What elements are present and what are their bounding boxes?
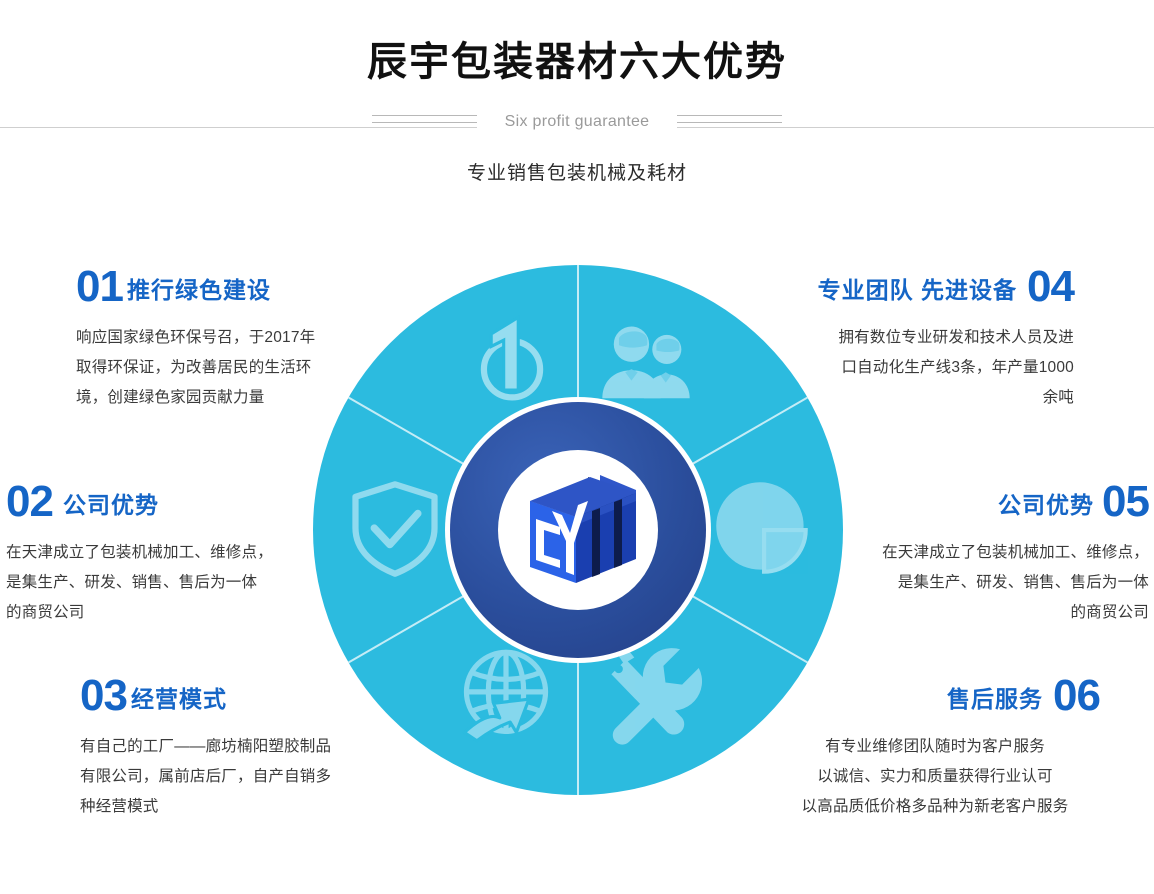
advantage-item-04: 专业团队 先进设备04 拥有数位专业研发和技术人员及进 口自动化生产线3条，年产… [782,265,1074,413]
advantage-body-line: 种经营模式 [80,792,390,822]
advantage-item-02: 02公司优势 在天津成立了包装机械加工、维修点， 是集生产、研发、销售、售后为一… [6,480,296,628]
advantage-body-05: 在天津成立了包装机械加工、维修点， 是集生产、研发、销售、售后为一体 的商贸公司 [855,538,1149,628]
advantage-number-04: 04 [1027,262,1074,311]
advantage-title-02: 公司优势 [63,492,159,518]
page-title: 辰宇包装器材六大优势 [0,36,1154,88]
advantage-number-05: 05 [1102,477,1149,526]
tools-wrench-icon [601,643,705,747]
advantage-body-line: 在天津成立了包装机械加工、维修点， [855,538,1149,568]
advantage-title-05: 公司优势 [998,492,1094,518]
advantage-body-line: 有限公司，属前店后厂，自产自销多 [80,762,390,792]
advantage-heading-04: 专业团队 先进设备04 [782,265,1074,309]
advantage-body-line: 境，创建绿色家园贡献力量 [76,383,376,413]
advantage-body-line: 在天津成立了包装机械加工、维修点， [6,538,296,568]
advantage-body-line: 是集生产、研发、销售、售后为一体 [855,568,1149,598]
advantage-body-line: 是集生产、研发、销售、售后为一体 [6,568,296,598]
advantage-heading-03: 03经营模式 [80,674,390,718]
advantage-body-line: 的商贸公司 [855,598,1149,628]
advantage-number-06: 06 [1053,671,1100,720]
advantage-body-line: 口自动化生产线3条，年产量1000 [782,353,1074,383]
advantage-body-line: 有自己的工厂——廊坊楠阳塑胶制品 [80,732,390,762]
advantage-body-01: 响应国家绿色环保号召，于2017年 取得环保证，为改善居民的生活环 境，创建绿色… [76,323,376,413]
advantage-heading-01: 01推行绿色建设 [76,265,376,309]
advantage-body-line: 余吨 [782,383,1074,413]
pie-chart-icon [710,476,814,580]
advantage-heading-06: 售后服务06 [770,674,1100,718]
advantage-body-line: 有专业维修团队随时为客户服务 [770,732,1100,762]
page-header: 辰宇包装器材六大优势 Six profit guarantee 专业销售包装机械… [0,0,1154,210]
advantage-number-02: 02 [6,477,53,526]
advantage-heading-02: 02公司优势 [6,480,296,524]
advantage-item-03: 03经营模式 有自己的工厂——廊坊楠阳塑胶制品 有限公司，属前店后厂，自产自销多… [80,674,390,822]
advantage-title-04: 专业团队 先进设备 [818,277,1017,303]
advantage-body-line: 以诚信、实力和质量获得行业认可 [770,762,1100,792]
advantage-number-01: 01 [76,262,123,311]
six-advantage-wheel [313,265,843,795]
hub-core [498,450,658,610]
advantage-body-line: 取得环保证，为改善居民的生活环 [76,353,376,383]
globe-growth-icon [454,643,558,747]
subtitle-english: Six profit guarantee [477,110,677,134]
advantage-title-03: 经营模式 [131,686,227,712]
advantage-title-01: 推行绿色建设 [127,277,271,303]
advantage-body-line: 响应国家绿色环保号召，于2017年 [76,323,376,353]
advantage-heading-05: 公司优势05 [855,480,1149,524]
subtitle-chinese: 专业销售包装机械及耗材 [0,158,1154,185]
advantage-body-line: 拥有数位专业研发和技术人员及进 [782,323,1074,353]
eco-power-icon [460,309,564,413]
advantage-title-06: 售后服务 [947,686,1043,712]
advantage-body-line: 以高品质低价格多品种为新老客户服务 [770,792,1100,822]
advantage-item-05: 公司优势05 在天津成立了包装机械加工、维修点， 是集生产、研发、销售、售后为一… [855,480,1149,628]
package-box-logo [514,471,642,589]
advantage-body-02: 在天津成立了包装机械加工、维修点， 是集生产、研发、销售、售后为一体 的商贸公司 [6,538,296,628]
advantage-body-line: 的商贸公司 [6,598,296,628]
advantage-number-03: 03 [80,671,127,720]
advantage-body-03: 有自己的工厂——廊坊楠阳塑胶制品 有限公司，属前店后厂，自产自销多 种经营模式 [80,732,390,822]
advantage-body-04: 拥有数位专业研发和技术人员及进 口自动化生产线3条，年产量1000 余吨 [782,323,1074,413]
advantage-item-01: 01推行绿色建设 响应国家绿色环保号召，于2017年 取得环保证，为改善居民的生… [76,265,376,413]
shield-check-icon [343,476,447,580]
advantage-body-06: 有专业维修团队随时为客户服务 以诚信、实力和质量获得行业认可 以高品质低价格多品… [770,732,1100,822]
advantage-item-06: 售后服务06 有专业维修团队随时为客户服务 以诚信、实力和质量获得行业认可 以高… [770,674,1100,822]
